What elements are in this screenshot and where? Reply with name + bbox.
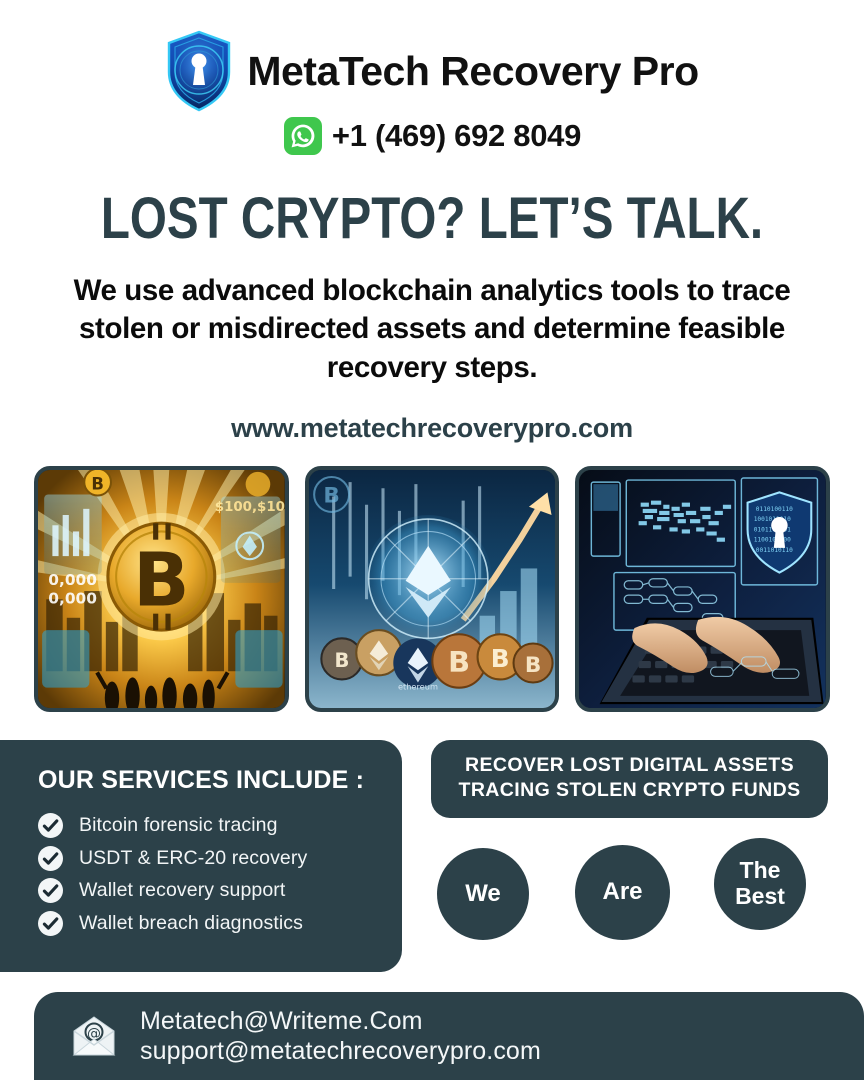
services-list: Bitcoin forensic tracing USDT & ERC-20 r… — [38, 813, 402, 936]
page-title: LOST CRYPTO? LET’S TALK. — [78, 190, 786, 248]
website-url[interactable]: www.metatechrecoverypro.com — [0, 413, 864, 444]
phone-number[interactable]: +1 (469) 692 8049 — [332, 118, 581, 154]
svg-text:0011010110: 0011010110 — [756, 547, 793, 554]
check-circle-icon — [38, 911, 63, 936]
hero-description: We use advanced blockchain analytics too… — [0, 272, 864, 387]
page-header: MetaTech Recovery Pro +1 (469) 692 8049 — [0, 0, 864, 156]
email-address[interactable]: support@metatechrecoverypro.com — [140, 1036, 541, 1066]
bitcoin-golden-city-image: B 0,000 0,000 $100,$10,000 B — [34, 466, 289, 712]
shield-keyhole-icon — [165, 30, 233, 112]
promo-circle-are: Are — [575, 845, 670, 940]
list-item: Wallet recovery support — [38, 878, 402, 903]
email-list: Metatech@Writeme.Com support@metatechrec… — [140, 1006, 541, 1066]
promo-circle-the-best: The Best — [714, 838, 806, 930]
ethereum-trading-chart-image: B ethereum B B B B — [305, 466, 560, 712]
svg-text:B: B — [334, 649, 349, 672]
contact-footer: @ Metatech@Writeme.Com support@metatechr… — [34, 992, 864, 1080]
promo-column: RECOVER LOST DIGITAL ASSETS TRACING STOL… — [402, 740, 864, 940]
services-title: OUR SERVICES INCLUDE : — [38, 766, 402, 795]
promo-banner-line: TRACING STOLEN CRYPTO FUNDS — [447, 778, 812, 803]
list-item: Bitcoin forensic tracing — [38, 813, 402, 838]
service-label: USDT & ERC-20 recovery — [79, 847, 307, 870]
image-gallery: B 0,000 0,000 $100,$10,000 B — [0, 466, 864, 712]
cyber-security-laptop-image: 0110100110 1001011010 0101101001 1100101… — [575, 466, 830, 712]
svg-text:B: B — [490, 644, 509, 673]
list-item: Wallet breach diagnostics — [38, 911, 402, 936]
svg-text:0,000: 0,000 — [48, 589, 97, 607]
brand-title: MetaTech Recovery Pro — [247, 48, 698, 95]
mid-section: OUR SERVICES INCLUDE : Bitcoin forensic … — [0, 740, 864, 972]
svg-text:B: B — [323, 484, 339, 509]
email-address[interactable]: Metatech@Writeme.Com — [140, 1006, 541, 1036]
phone-row[interactable]: +1 (469) 692 8049 — [0, 116, 864, 156]
promo-banner-line: RECOVER LOST DIGITAL ASSETS — [447, 753, 812, 778]
promo-banner: RECOVER LOST DIGITAL ASSETS TRACING STOL… — [431, 740, 828, 818]
svg-text:1100101100: 1100101100 — [754, 537, 791, 544]
svg-text:$100,$10,000: $100,$10,000 — [215, 500, 285, 515]
check-circle-icon — [38, 878, 63, 903]
svg-text:ethereum: ethereum — [398, 682, 438, 692]
service-label: Bitcoin forensic tracing — [79, 814, 278, 837]
promo-circle-we: We — [437, 848, 529, 940]
check-circle-icon — [38, 846, 63, 871]
whatsapp-icon[interactable] — [283, 116, 323, 156]
promo-circles: We Are The Best — [431, 838, 828, 940]
service-label: Wallet breach diagnostics — [79, 912, 303, 935]
envelope-at-icon: @ — [70, 1015, 118, 1057]
list-item: USDT & ERC-20 recovery — [38, 846, 402, 871]
service-label: Wallet recovery support — [79, 879, 285, 902]
svg-text:B: B — [525, 653, 541, 678]
svg-text:0,000: 0,000 — [48, 571, 97, 589]
svg-text:0110100110: 0110100110 — [756, 506, 793, 513]
services-panel: OUR SERVICES INCLUDE : Bitcoin forensic … — [0, 740, 402, 972]
brand-row: MetaTech Recovery Pro — [0, 30, 864, 112]
check-circle-icon — [38, 813, 63, 838]
svg-text:B: B — [448, 645, 470, 679]
svg-text:B: B — [133, 537, 189, 623]
svg-text:B: B — [91, 474, 104, 493]
